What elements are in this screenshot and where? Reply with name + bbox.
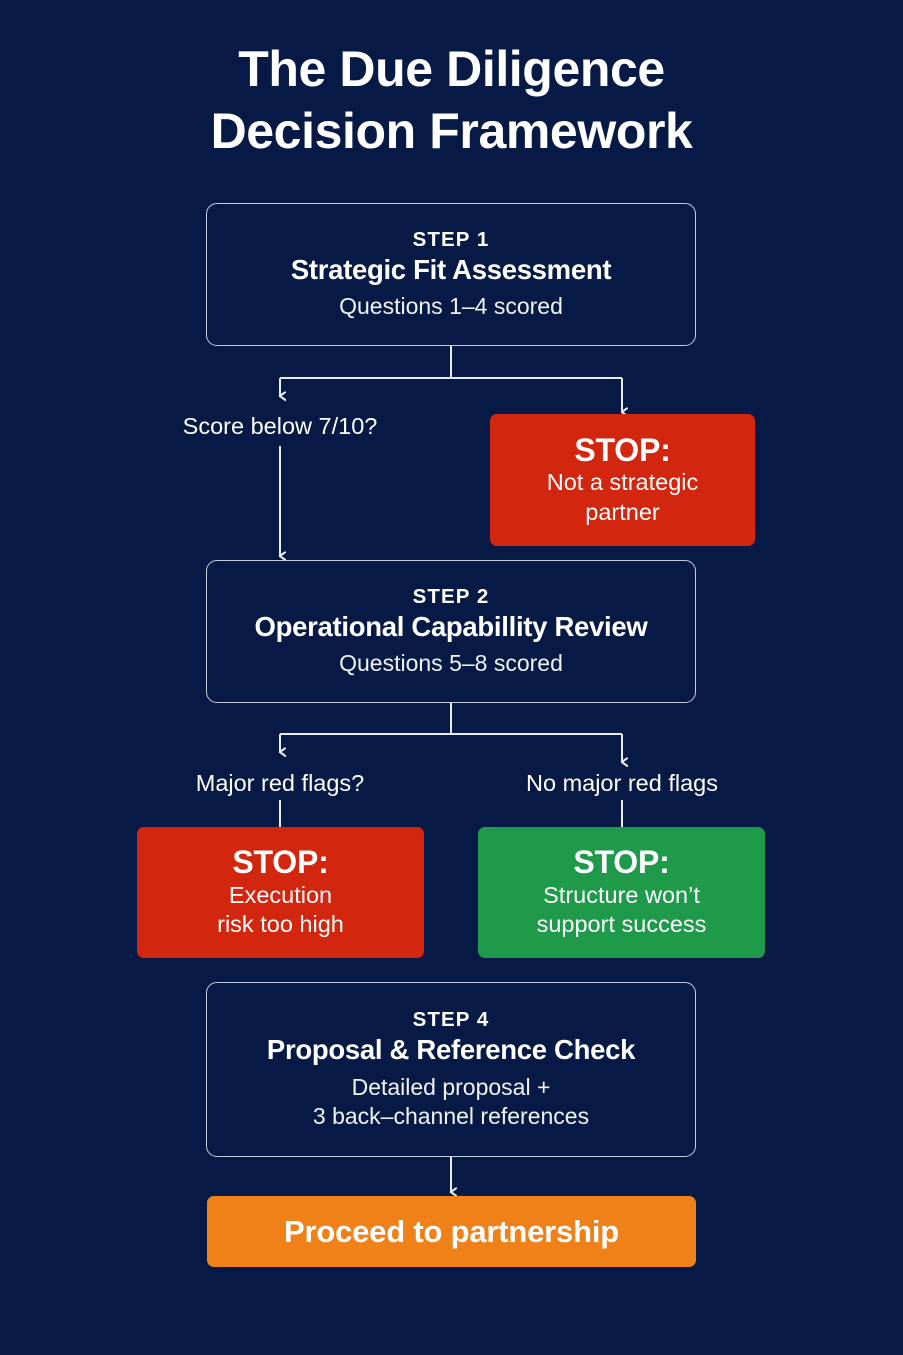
- proceed-to-partnership-label: Proceed to partnership: [284, 1214, 619, 1250]
- stop-3-head: STOP:: [573, 845, 669, 880]
- stop-1-head: STOP:: [574, 433, 670, 468]
- stop-2-body-line-2: risk too high: [217, 910, 344, 940]
- page-title: The Due Diligence Decision Framework: [0, 38, 903, 162]
- stop-3-body-line-2: support success: [537, 910, 707, 940]
- proceed-to-partnership-box[interactable]: Proceed to partnership: [207, 1196, 696, 1267]
- step-4-subtitle-line-1: Detailed proposal +: [352, 1074, 551, 1100]
- page-title-line-1: The Due Diligence: [238, 41, 665, 97]
- stop-not-strategic-partner-box[interactable]: STOP: Not a strategic partner: [490, 414, 755, 546]
- edge-label-score-below: Score below 7/10?: [150, 413, 410, 440]
- page-title-line-2: Decision Framework: [0, 100, 903, 162]
- step-1-kicker: STEP 1: [413, 228, 490, 252]
- stop-1-body-line-1: Not a strategic: [547, 469, 699, 495]
- edge-label-major-red-flags: Major red flags?: [150, 770, 410, 797]
- step-4-box[interactable]: STEP 4 Proposal & Reference Check Detail…: [206, 982, 696, 1157]
- stop-execution-risk-box[interactable]: STOP: Execution risk too high: [137, 827, 424, 958]
- stop-3-body-line-1: Structure won’t: [543, 882, 700, 908]
- step-4-title: Proposal & Reference Check: [267, 1034, 635, 1066]
- stop-2-head: STOP:: [232, 845, 328, 880]
- stop-3-body: Structure won’t support success: [537, 881, 707, 940]
- step-1-title: Strategic Fit Assessment: [291, 254, 611, 286]
- step-2-box[interactable]: STEP 2 Operational Capabillity Review Qu…: [206, 560, 696, 703]
- stop-structure-support-box[interactable]: STOP: Structure won’t support success: [478, 827, 765, 958]
- step-4-subtitle: Detailed proposal + 3 back–channel refer…: [313, 1073, 589, 1131]
- step-2-kicker: STEP 2: [413, 585, 490, 609]
- step-4-kicker: STEP 4: [413, 1008, 490, 1032]
- stop-2-body: Execution risk too high: [217, 881, 344, 940]
- stop-1-body-line-2: partner: [547, 498, 699, 528]
- step-2-subtitle: Questions 5–8 scored: [339, 649, 563, 678]
- stop-2-body-line-1: Execution: [229, 882, 332, 908]
- edge-label-no-major-red-flags: No major red flags: [492, 770, 752, 797]
- step-2-title: Operational Capabillity Review: [255, 611, 648, 643]
- step-4-subtitle-line-2: 3 back–channel references: [313, 1102, 589, 1131]
- step-1-box[interactable]: STEP 1 Strategic Fit Assessment Question…: [206, 203, 696, 346]
- stop-1-body: Not a strategic partner: [547, 468, 699, 527]
- flowchart-canvas: The Due Diligence Decision Framework: [0, 0, 903, 1355]
- step-1-subtitle: Questions 1–4 scored: [339, 292, 563, 321]
